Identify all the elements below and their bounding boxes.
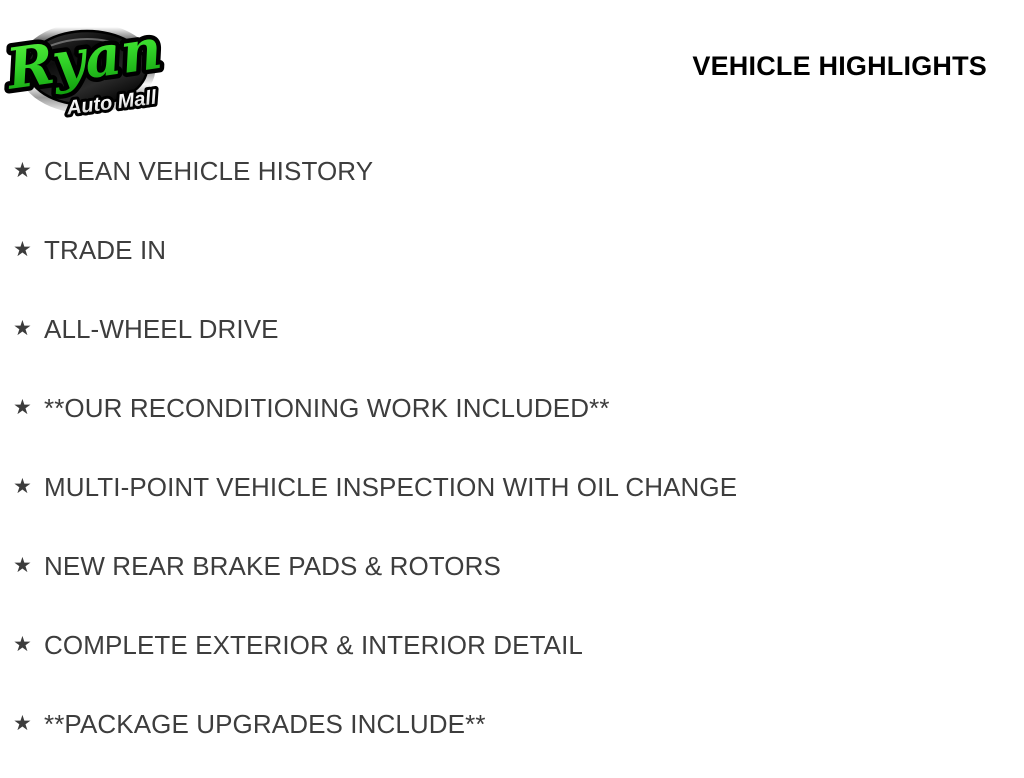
list-item: ★ **OUR RECONDITIONING WORK INCLUDED** (0, 383, 1024, 462)
star-icon: ★ (13, 304, 33, 354)
highlight-label: COMPLETE EXTERIOR & INTERIOR DETAIL (44, 620, 583, 670)
star-icon: ★ (13, 146, 33, 196)
vehicle-highlights-list: ★ CLEAN VEHICLE HISTORY ★ TRADE IN ★ ALL… (0, 146, 1024, 778)
star-icon: ★ (13, 699, 33, 749)
star-icon: ★ (13, 462, 33, 512)
star-icon: ★ (13, 620, 33, 670)
highlight-label: **PACKAGE UPGRADES INCLUDE** (44, 699, 486, 749)
highlight-label: CLEAN VEHICLE HISTORY (44, 146, 373, 196)
page-header: Ryan Ryan Auto Mall Auto Mall VEHICLE HI… (0, 0, 1024, 132)
ryan-auto-mall-logo[interactable]: Ryan Ryan Auto Mall Auto Mall (14, 12, 160, 120)
star-icon: ★ (13, 383, 33, 433)
list-item: ★ COMPLETE EXTERIOR & INTERIOR DETAIL (0, 620, 1024, 699)
highlight-label: **OUR RECONDITIONING WORK INCLUDED** (44, 383, 610, 433)
list-item: ★ MULTI-POINT VEHICLE INSPECTION WITH OI… (0, 462, 1024, 541)
highlight-label: MULTI-POINT VEHICLE INSPECTION WITH OIL … (44, 462, 737, 512)
list-item: ★ NEW REAR BRAKE PADS & ROTORS (0, 541, 1024, 620)
star-icon: ★ (13, 225, 33, 275)
star-icon: ★ (13, 541, 33, 591)
list-item: ★ **PACKAGE UPGRADES INCLUDE** (0, 699, 1024, 778)
list-item: ★ CLEAN VEHICLE HISTORY (0, 146, 1024, 225)
list-item: ★ TRADE IN (0, 225, 1024, 304)
highlight-label: NEW REAR BRAKE PADS & ROTORS (44, 541, 501, 591)
list-item: ★ ALL-WHEEL DRIVE (0, 304, 1024, 383)
vehicle-highlights-page: Ryan Ryan Auto Mall Auto Mall VEHICLE HI… (0, 0, 1024, 768)
highlight-label: ALL-WHEEL DRIVE (44, 304, 279, 354)
highlight-label: TRADE IN (44, 225, 166, 275)
page-title: VEHICLE HIGHLIGHTS (692, 51, 987, 82)
